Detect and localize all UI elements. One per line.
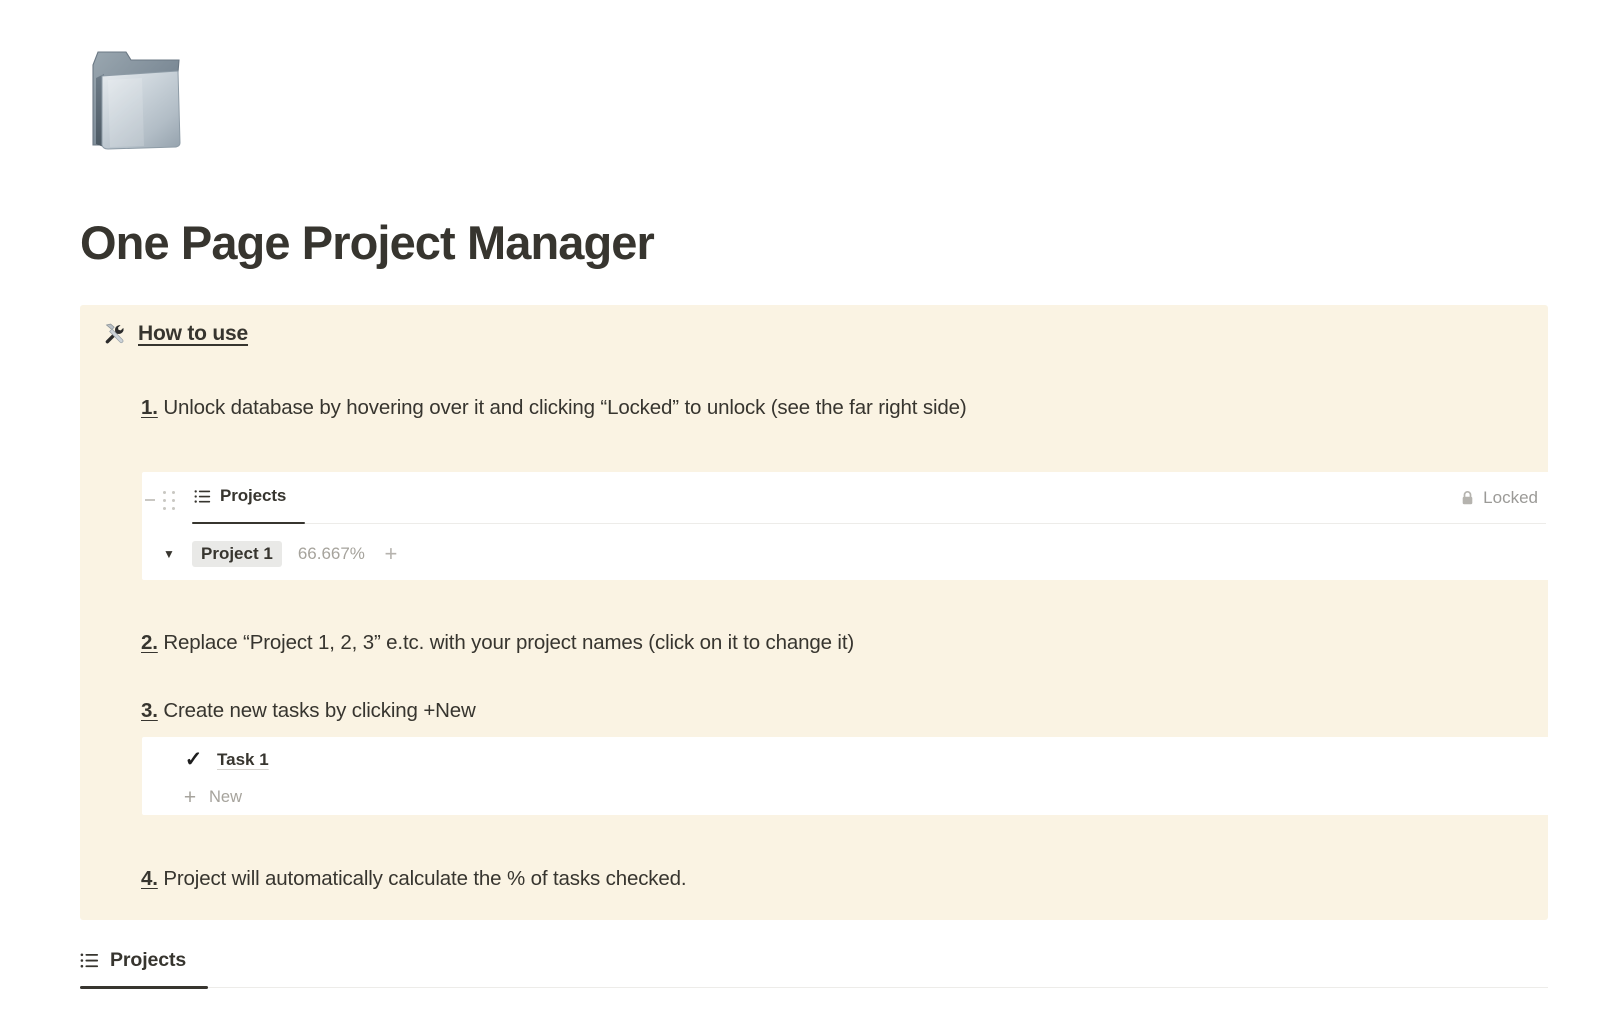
step-number: 1. [141, 396, 158, 419]
plus-icon: + [182, 787, 198, 808]
locked-status[interactable]: Locked [1460, 488, 1538, 508]
callout-header: How to use [102, 322, 248, 346]
tab-label: Projects [220, 486, 286, 506]
bottom-database: Projects [80, 944, 1548, 1000]
step-text: Replace “Project 1, 2, 3” e.tc. with you… [158, 631, 854, 654]
step-text: Project will automatically calculate the… [158, 867, 687, 890]
tab-bar-rule [305, 523, 1546, 524]
add-row-button[interactable]: + [381, 543, 401, 565]
locked-label: Locked [1483, 488, 1538, 508]
database-group-row: ▼ Project 1 66.667% + [142, 534, 1554, 574]
bottom-active-tab-underline [80, 986, 208, 989]
list-view-icon [194, 488, 211, 505]
database-toolbar: Projects Locked [142, 472, 1554, 530]
callout-step-3: 3. Create new tasks by clicking +New [141, 696, 476, 726]
tab-projects[interactable]: Projects [194, 486, 290, 506]
active-tab-underline [192, 522, 305, 524]
new-task-label: New [209, 788, 242, 807]
notion-page: One Page Project Manager How to use 1. U… [0, 0, 1600, 1024]
step-number: 2. [141, 631, 158, 654]
group-percent: 66.667% [298, 544, 365, 564]
lock-icon [1460, 490, 1475, 506]
step-text: Unlock database by hovering over it and … [158, 396, 967, 419]
bottom-tab-label: Projects [110, 949, 186, 972]
chevron-down-icon[interactable]: ▼ [160, 548, 178, 560]
callout-step-2: 2. Replace “Project 1, 2, 3” e.tc. with … [141, 628, 854, 658]
task-row[interactable]: ✓ Task 1 [184, 749, 269, 770]
hammer-and-wrench-icon [102, 322, 126, 346]
list-view-icon [80, 951, 99, 970]
step-text: Create new tasks by clicking +New [158, 699, 476, 722]
folder-icon[interactable] [86, 44, 186, 156]
step-number: 4. [141, 867, 158, 890]
checkmark-icon[interactable]: ✓ [184, 749, 203, 770]
callout-step-4: 4. Project will automatically calculate … [141, 864, 686, 894]
callout-title: How to use [138, 322, 248, 346]
task-title[interactable]: Task 1 [217, 750, 269, 770]
page-title[interactable]: One Page Project Manager [80, 216, 654, 270]
step-number: 3. [141, 699, 158, 722]
new-task-button[interactable]: + New [182, 787, 242, 808]
collapse-dash-icon[interactable] [145, 499, 155, 501]
projects-database-embed: Projects Locked ▼ Project 1 [142, 472, 1554, 580]
bottom-tab-projects[interactable]: Projects [80, 944, 186, 976]
tasks-database-embed: ✓ Task 1 + New [142, 737, 1587, 815]
drag-handle-icon[interactable] [162, 490, 176, 512]
group-name-pill[interactable]: Project 1 [192, 541, 282, 567]
how-to-use-callout: How to use 1. Unlock database by hoverin… [80, 305, 1548, 920]
bottom-tab-rule [208, 987, 1548, 988]
callout-step-1: 1. Unlock database by hovering over it a… [141, 393, 967, 423]
